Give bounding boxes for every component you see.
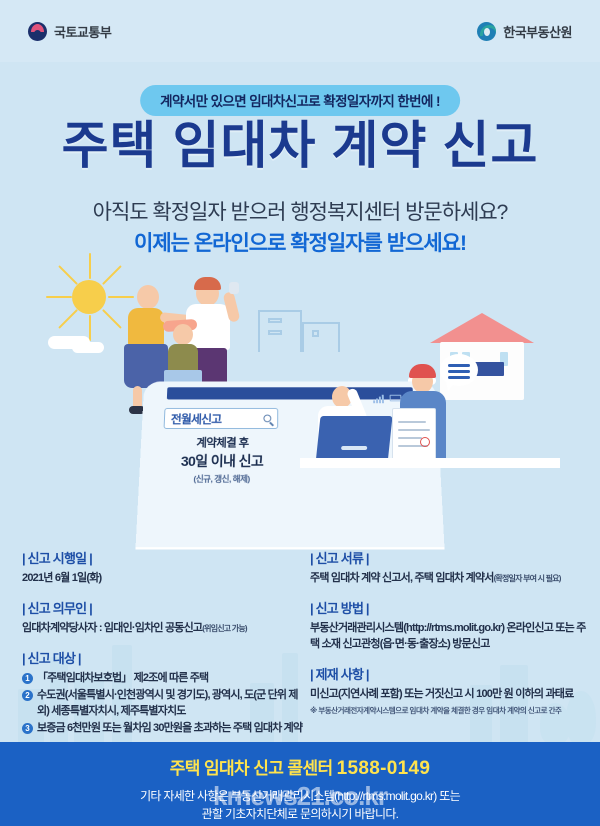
house-door xyxy=(474,362,504,376)
sun-ray xyxy=(58,309,78,329)
info-title: | 제재 사항 | xyxy=(310,664,592,683)
list-item: 2 수도권(서울특별시·인천광역시 및 경기도), 광역시, 도(군 단위 제외… xyxy=(22,688,304,719)
reb-logo-label: 한국부동산원 xyxy=(503,22,572,41)
list-item: 3 보증금 6천만원 또는 월차임 30만원을 초과하는 주택 임대차 계약 xyxy=(22,721,304,736)
info-column-right: | 신고 서류 | 주택 임대차 계약 신고서, 주택 임대차 계약서(확정일자… xyxy=(310,548,592,727)
deadline-note: 계약체결 후 30일 이내 신고 (신규, 갱신, 해제) xyxy=(151,435,292,485)
bubble-line xyxy=(448,370,470,373)
desk-surface xyxy=(300,458,560,468)
info-body: 2021년 6월 1일(화) xyxy=(22,571,304,587)
clerk-hair xyxy=(409,364,436,378)
deadline-note-line2: 30일 이내 신고 xyxy=(152,451,292,471)
info-block-documents: | 신고 서류 | 주택 임대차 계약 신고서, 주택 임대차 계약서(확정일자… xyxy=(310,548,592,587)
info-title: | 신고 방법 | xyxy=(310,598,592,617)
cloud-icon xyxy=(72,342,104,353)
info-body: 임대차계약당사자 : 임대인·임차인 공동신고(위임신고 가능) xyxy=(22,621,304,637)
phone-status-bar xyxy=(167,387,413,399)
father-hair xyxy=(194,277,221,290)
house-key-icon xyxy=(229,282,239,294)
list-number: 1 xyxy=(22,673,33,684)
stamp-icon xyxy=(420,437,430,447)
info-column-left: | 신고 시행일 | 2021년 6월 1일(화) | 신고 의무인 | 임대차… xyxy=(22,548,304,747)
info-title: | 신고 대상 | xyxy=(22,648,304,667)
call-center-number[interactable]: 1588-0149 xyxy=(337,758,431,779)
deadline-note-line3: (신규, 갱신, 해제) xyxy=(151,473,292,485)
sun-ray xyxy=(108,296,134,298)
bubble-line xyxy=(448,364,470,367)
info-block-obligated-party: | 신고 의무인 | 임대차계약당사자 : 임대인·임차인 공동신고(위임신고 … xyxy=(22,598,304,637)
document-line xyxy=(398,421,426,423)
info-body-text: 주택 임대차 계약 신고서, 주택 임대차 계약서 xyxy=(310,572,494,584)
info-block-method: | 신고 방법 | 부동산거래관리시스템(http://rtms.molit.g… xyxy=(310,598,592,653)
bubble-line xyxy=(448,376,470,379)
list-number: 2 xyxy=(22,690,33,701)
search-icon[interactable] xyxy=(263,415,271,423)
list-item-text: 보증금 6천만원 또는 월차임 30만원을 초과하는 주택 임대차 계약 xyxy=(37,721,302,736)
info-title: | 신고 시행일 | xyxy=(22,548,304,567)
info-block-enforcement-date: | 신고 시행일 | 2021년 6월 1일(화) xyxy=(22,548,304,587)
info-footnote: ※ 부동산거래전자계약시스템으로 임대차 계약을 체결한 경우 임대차 계약의 … xyxy=(310,705,592,716)
building-outline xyxy=(302,322,340,352)
poster-header: 국토교통부 한국부동산원 xyxy=(0,0,600,62)
info-body-text: 임대차계약당사자 : 임대인·임차인 공동신고 xyxy=(22,622,202,634)
info-body-small: (확정일자 부여 시 필요) xyxy=(494,574,561,583)
sun-ray xyxy=(46,296,72,298)
info-title: | 신고 의무인 | xyxy=(22,598,304,617)
sun-ray xyxy=(58,265,78,285)
list-number: 3 xyxy=(22,723,33,734)
poster-footer: 주택 임대차 신고 콜센터 1588-0149 기타 자세한 사항은 부동산거래… xyxy=(0,742,600,826)
list-item-text: 「주택임대차보호법」 제2조에 따른 주택 xyxy=(37,671,208,686)
page-title: 주택 임대차 계약 신고 xyxy=(0,118,600,174)
sun-ray xyxy=(102,265,122,285)
sun-ray xyxy=(102,309,122,329)
info-body: 미신고(지연사례 포함) 또는 거짓신고 시 100만 원 이하의 과태료 xyxy=(310,687,592,703)
document-line xyxy=(398,437,422,439)
signal-icon xyxy=(373,395,384,403)
info-block-penalty: | 제재 사항 | 미신고(지연사례 포함) 또는 거짓신고 시 100만 원 … xyxy=(310,664,592,716)
building-window xyxy=(268,330,282,335)
list-item: 1 「주택임대차보호법」 제2조에 따른 주택 xyxy=(22,671,304,686)
ministry-logo-label: 국토교통부 xyxy=(54,22,111,41)
laptop-icon xyxy=(315,416,392,464)
house-roof xyxy=(430,313,534,343)
search-input-value: 전월세신고 xyxy=(171,410,222,426)
hero-badge: 계약서만 있으면 임대차신고로 확정일자까지 한번에 ! xyxy=(140,85,460,116)
sun-ray xyxy=(89,315,91,341)
list-item-text: 수도권(서울특별시·인천광역시 및 경기도), 광역시, 도(군 단위 제외) … xyxy=(37,688,304,719)
mother-head xyxy=(137,285,159,309)
info-block-report-target: | 신고 대상 | 1 「주택임대차보호법」 제2조에 따른 주택 2 수도권(… xyxy=(22,648,304,737)
info-section: | 신고 시행일 | 2021년 6월 1일(화) | 신고 의무인 | 임대차… xyxy=(0,548,600,738)
call-center-line: 주택 임대차 신고 콜센터 1588-0149 xyxy=(0,754,600,780)
search-input[interactable]: 전월세신고 xyxy=(164,408,279,429)
ministry-logo: 국토교통부 xyxy=(28,22,111,41)
reb-logo: 한국부동산원 xyxy=(477,22,572,41)
taeguk-icon xyxy=(28,22,47,41)
speech-bubble-icon xyxy=(440,354,478,386)
building-window xyxy=(312,330,319,337)
footer-line-2: 관할 기초자치단체로 문의하시기 바랍니다. xyxy=(0,805,600,823)
hero-subtitle-1: 아직도 확정일자 받으러 행정복지센터 방문하세요? xyxy=(0,196,600,226)
mother-top xyxy=(128,308,164,346)
info-body-small: (위임신고 가능) xyxy=(202,624,247,633)
korea-real-estate-board-icon xyxy=(477,22,496,41)
document-line xyxy=(398,429,430,431)
deadline-note-line1: 계약체결 후 xyxy=(153,435,292,451)
call-center-label: 주택 임대차 신고 콜센터 xyxy=(170,759,333,778)
building-window xyxy=(268,318,282,323)
sun-ray xyxy=(89,253,91,279)
child-top xyxy=(168,344,198,372)
child-head xyxy=(173,324,193,345)
poster-root: 국토교통부 한국부동산원 계약서만 있으면 임대차신고로 확정일자까지 한번에 … xyxy=(0,0,600,826)
info-body: 부동산거래관리시스템(http://rtms.molit.go.kr) 온라인신… xyxy=(310,621,592,653)
illustration-area: 전월세신고 계약체결 후 30일 이내 신고 (신규, 갱신, 해제) xyxy=(0,258,600,543)
info-title: | 신고 서류 | xyxy=(310,548,592,567)
footer-line-1: 기타 자세한 사항은 부동산거래관리시스템(http://rtms.molit.… xyxy=(0,787,600,805)
info-body: 주택 임대차 계약 신고서, 주택 임대차 계약서(확정일자 부여 시 필요) xyxy=(310,571,592,587)
